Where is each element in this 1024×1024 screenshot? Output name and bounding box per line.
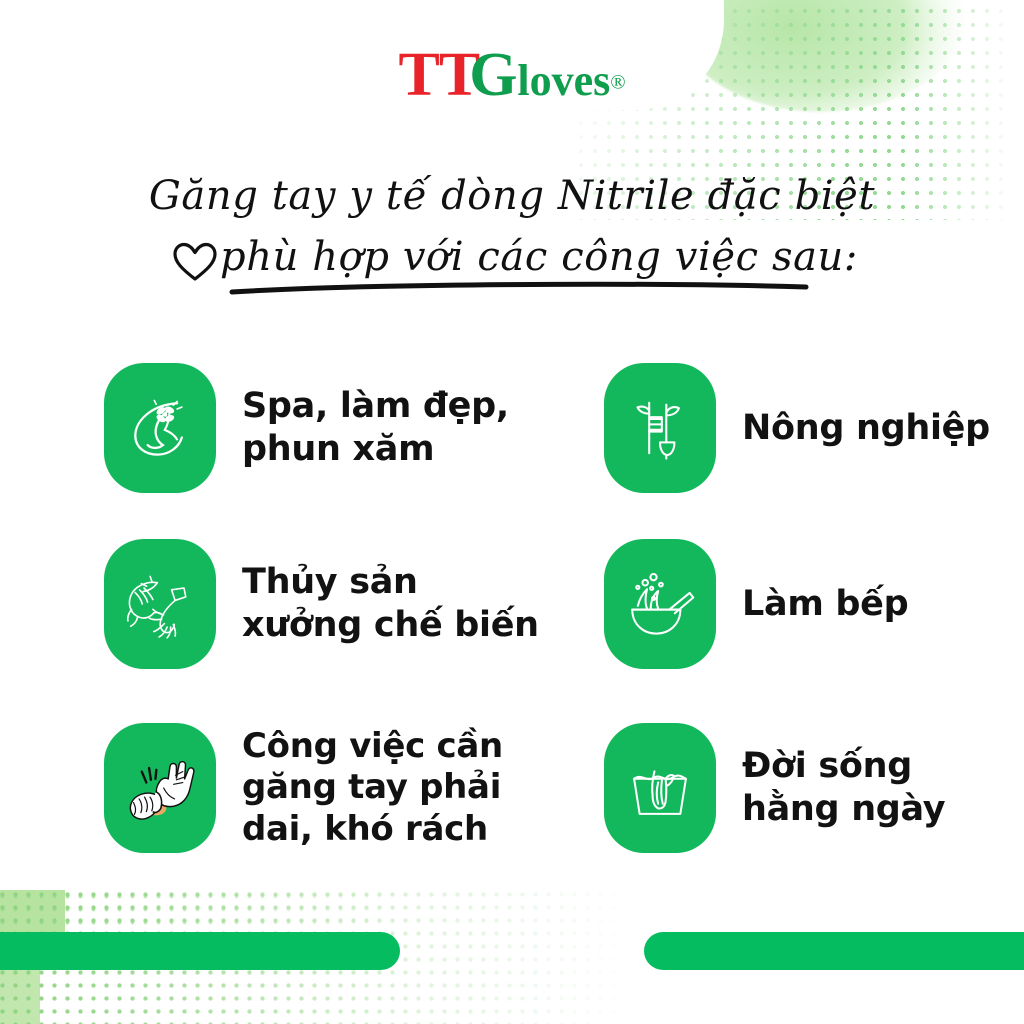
badge-agriculture (604, 363, 716, 493)
brand-logo: TTGloves® (0, 44, 1024, 106)
benefit-label-daily-life: Đời sống hằng ngày (742, 745, 945, 830)
logo-text-ttg: TT (398, 41, 479, 109)
benefit-item-tough-work[interactable]: Công việc cần găng tay phải dai, khó rác… (104, 708, 584, 868)
footer-bar-left (0, 932, 400, 970)
registered-trademark-icon: ® (610, 72, 625, 94)
headline: Găng tay y tế dòng Nitrile đặc biệt phù … (0, 168, 1024, 296)
headline-row-2: phù hợp với các công việc sau: (166, 229, 858, 286)
headline-line-1: Găng tay y tế dòng Nitrile đặc biệt (0, 168, 1024, 225)
spa-face-flower-icon (122, 390, 198, 466)
benefit-item-seafood[interactable]: Thủy sản xưởng chế biến (104, 528, 584, 680)
benefit-item-spa[interactable]: Spa, làm đẹp, phun xăm (104, 352, 584, 504)
badge-cooking (604, 539, 716, 669)
glove-hands-icon (119, 751, 201, 825)
benefit-label-spa: Spa, làm đẹp, phun xăm (242, 385, 509, 470)
logo-text-g: G (469, 41, 517, 109)
heart-outline-icon (172, 241, 218, 281)
footer-bar-right (644, 932, 1024, 970)
benefit-label-tough-work: Công việc cần găng tay phải dai, khó rác… (242, 726, 503, 850)
benefit-label-cooking: Làm bếp (742, 583, 908, 626)
badge-seafood (104, 539, 216, 669)
benefit-label-seafood: Thủy sản xưởng chế biến (242, 561, 539, 646)
headline-underline (0, 280, 1024, 296)
benefits-grid: Spa, làm đẹp, phun xăm (0, 352, 1024, 882)
shrimp-squid-icon (120, 568, 200, 640)
plant-shovel-icon (624, 392, 696, 464)
wok-pan-icon (623, 567, 697, 641)
benefit-item-cooking[interactable]: Làm bếp (604, 528, 1024, 680)
logo-text-loves: loves (517, 56, 610, 105)
infographic-canvas: TTGloves® Găng tay y tế dòng Nitrile đặc… (0, 0, 1024, 1024)
benefit-label-agriculture: Nông nghiệp (742, 407, 990, 450)
benefit-item-daily-life[interactable]: Đời sống hằng ngày (604, 708, 1024, 868)
badge-tough-work (104, 723, 216, 853)
badge-spa (104, 363, 216, 493)
benefit-item-agriculture[interactable]: Nông nghiệp (604, 352, 1024, 504)
handwash-basin-icon (623, 751, 697, 825)
headline-line-2: phù hợp với các công việc sau: (220, 234, 858, 280)
badge-daily-life (604, 723, 716, 853)
